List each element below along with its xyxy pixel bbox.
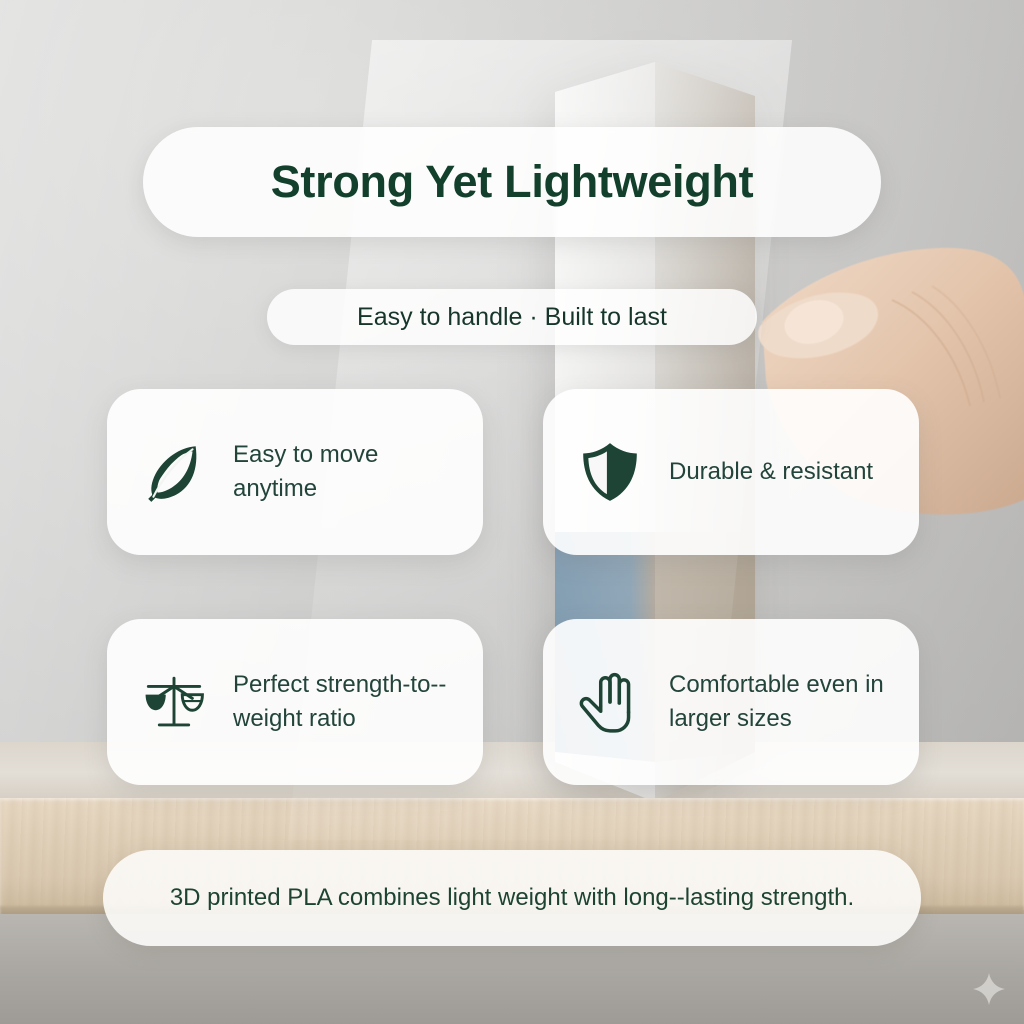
feature-label: Comfortable even in larger sizes (669, 668, 893, 736)
feature-grid: Easy to move anytime Durable & resistant (107, 389, 919, 785)
feature-card-easy-to-move[interactable]: Easy to move anytime (107, 389, 483, 555)
footer-text: 3D printed PLA combines light weight wit… (170, 881, 854, 916)
page-subtitle: Easy to handle · Built to last (357, 303, 667, 332)
sparkle-icon (972, 972, 1006, 1006)
overlay-content: Strong Yet Lightweight Easy to handle · … (0, 0, 1024, 1024)
subtitle-pill: Easy to handle · Built to last (267, 289, 757, 345)
open-hand-icon (577, 667, 643, 737)
feature-label: Easy to move anytime (233, 438, 457, 506)
shield-icon (577, 437, 643, 507)
feature-label: Perfect strength-to--weight ratio (233, 668, 457, 736)
feature-label: Durable & resistant (669, 455, 873, 489)
page-title: Strong Yet Lightweight (271, 156, 754, 208)
feature-card-durable[interactable]: Durable & resistant (543, 389, 919, 555)
feather-icon (141, 437, 207, 507)
infographic-canvas: Strong Yet Lightweight Easy to handle · … (0, 0, 1024, 1024)
feature-card-strength-ratio[interactable]: Perfect strength-to--weight ratio (107, 619, 483, 785)
footer-pill: 3D printed PLA combines light weight wit… (103, 850, 921, 946)
title-pill: Strong Yet Lightweight (143, 127, 881, 237)
balance-scale-icon (141, 667, 207, 737)
feature-card-comfortable[interactable]: Comfortable even in larger sizes (543, 619, 919, 785)
